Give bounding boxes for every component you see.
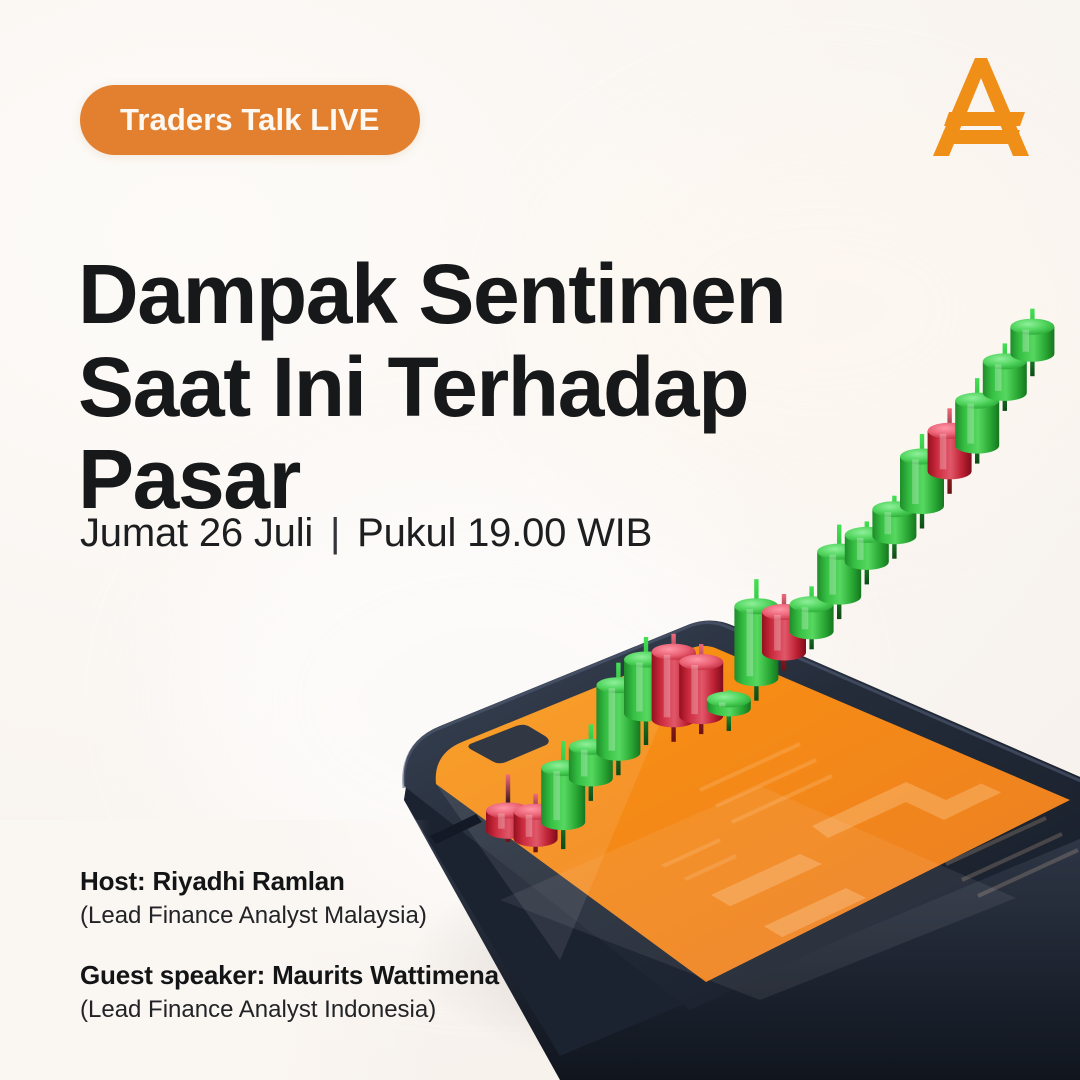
live-badge[interactable]: Traders Talk LIVE bbox=[80, 85, 420, 155]
candle-20 bbox=[1010, 309, 1054, 377]
poster-canvas: Traders Talk LIVE Dampak Sentimen Saat I… bbox=[0, 0, 1080, 1080]
candle-7 bbox=[652, 634, 696, 742]
candle-1 bbox=[486, 775, 530, 843]
candle-10 bbox=[734, 579, 778, 701]
guest-name: Guest speaker: Maurits Wattimena bbox=[80, 960, 499, 991]
event-date: Jumat 26 Juli bbox=[80, 511, 313, 555]
headline-line-2: Saat Ini Terhadap bbox=[78, 341, 838, 433]
host-credit: Host: Riyadhi Ramlan (Lead Finance Analy… bbox=[80, 866, 499, 930]
candle-12 bbox=[790, 586, 834, 649]
candle-18 bbox=[955, 378, 999, 464]
candle-11 bbox=[762, 594, 806, 671]
candle-4 bbox=[569, 724, 613, 801]
candle-9 bbox=[707, 690, 751, 731]
candle-13 bbox=[817, 525, 861, 620]
candle-3 bbox=[541, 741, 585, 849]
candle-15 bbox=[872, 496, 916, 559]
guest-credit: Guest speaker: Maurits Wattimena (Lead F… bbox=[80, 960, 499, 1024]
candle-6 bbox=[624, 637, 668, 745]
speaker-credits: Host: Riyadhi Ramlan (Lead Finance Analy… bbox=[80, 866, 499, 1024]
schedule-separator: | bbox=[324, 511, 346, 555]
candle-5 bbox=[596, 663, 640, 776]
event-schedule: Jumat 26 Juli | Pukul 19.00 WIB bbox=[80, 511, 652, 556]
host-role: (Lead Finance Analyst Malaysia) bbox=[80, 902, 499, 930]
candle-14 bbox=[845, 521, 889, 584]
candle-8 bbox=[679, 644, 723, 734]
guest-role: (Lead Finance Analyst Indonesia) bbox=[80, 996, 499, 1024]
headline-line-1: Dampak Sentimen bbox=[78, 248, 838, 340]
phone-device bbox=[404, 620, 1080, 1080]
live-badge-label: Traders Talk LIVE bbox=[120, 102, 380, 138]
event-time: Pukul 19.00 WIB bbox=[357, 511, 652, 555]
host-name: Host: Riyadhi Ramlan bbox=[80, 866, 499, 897]
candle-19 bbox=[983, 343, 1027, 411]
candle-16 bbox=[900, 434, 944, 529]
candle-17 bbox=[928, 408, 972, 494]
page-title: Dampak Sentimen Saat Ini Terhadap Pasar bbox=[78, 248, 838, 525]
ascend-a-logo bbox=[928, 52, 1034, 162]
candle-2 bbox=[514, 794, 558, 853]
